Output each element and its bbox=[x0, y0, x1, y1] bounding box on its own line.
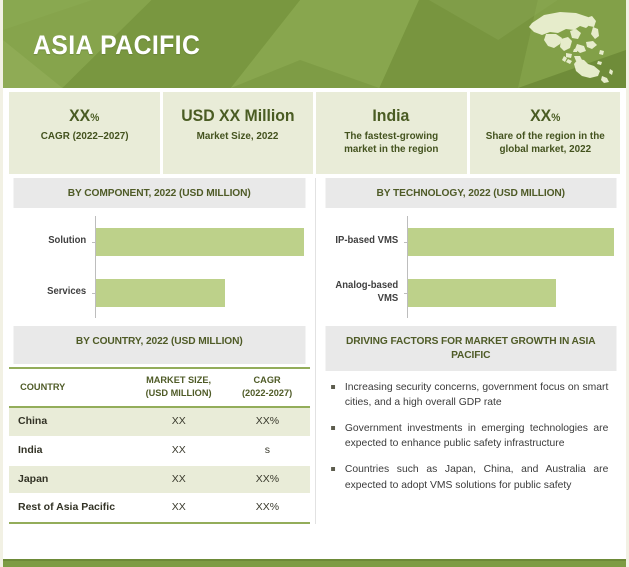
column-header-market-size: MARKET SIZE, (USD MILLION) bbox=[134, 368, 223, 407]
cell-cagr: XX% bbox=[225, 494, 309, 523]
stat-card-global-share: XX% Share of the region in the global ma… bbox=[470, 92, 621, 174]
list-item: Countries such as Japan, China, and Aust… bbox=[329, 462, 608, 492]
column-header-market-size-line2: (USD MILLION) bbox=[138, 388, 220, 401]
cell-country: China bbox=[9, 407, 132, 436]
stat-value-suffix: % bbox=[551, 112, 560, 124]
stat-value: XX% bbox=[69, 106, 99, 126]
charts-row: BY COMPONENT, 2022 (USD MILLION) Solutio… bbox=[3, 178, 626, 326]
page-title: ASIA PACIFIC bbox=[33, 30, 200, 61]
stat-value-text: USD XX Million bbox=[181, 106, 294, 125]
table-row: Rest of Asia Pacific XX XX% bbox=[9, 494, 310, 523]
table-header-row: COUNTRY MARKET SIZE, (USD MILLION) CAGR … bbox=[9, 368, 310, 407]
by-component-panel: BY COMPONENT, 2022 (USD MILLION) Solutio… bbox=[9, 178, 315, 326]
by-country-panel: BY COUNTRY, 2022 (USD MILLION) COUNTRY M… bbox=[9, 326, 315, 524]
chart-row: IP-based VMS bbox=[321, 216, 615, 267]
stat-label: Market Size, 2022 bbox=[197, 130, 279, 144]
stat-card-market-size: USD XX Million Market Size, 2022 bbox=[163, 92, 314, 174]
bar-category-label: Solution bbox=[11, 235, 93, 248]
bar-track bbox=[96, 279, 304, 307]
list-item: Government investments in emerging techn… bbox=[329, 421, 608, 451]
bar-services bbox=[96, 279, 225, 307]
section-header-by-technology: BY TECHNOLOGY, 2022 (USD MILLION) bbox=[325, 178, 616, 208]
cell-market-size: XX bbox=[132, 465, 225, 494]
section-header-by-component: BY COMPONENT, 2022 (USD MILLION) bbox=[14, 178, 305, 208]
chart-row: Analog-based VMS bbox=[321, 267, 615, 318]
chart-axis-line bbox=[95, 267, 96, 318]
stat-value: India bbox=[373, 106, 410, 126]
bar-analog-based-vms bbox=[408, 279, 557, 307]
footer-accent-bar bbox=[3, 559, 626, 567]
table-body: China XX XX% India XX s Japan XX XX% bbox=[9, 407, 310, 523]
table-head: COUNTRY MARKET SIZE, (USD MILLION) CAGR … bbox=[9, 368, 310, 407]
bar-solution bbox=[96, 228, 304, 256]
stat-label: CAGR (2022–2027) bbox=[40, 130, 128, 144]
driving-factors-list: Increasing security concerns, government… bbox=[321, 376, 621, 493]
section-header-driving-factors: DRIVING FACTORS FOR MARKET GROWTH IN ASI… bbox=[325, 326, 616, 370]
bar-track bbox=[408, 279, 615, 307]
stat-value: USD XX Million bbox=[181, 106, 294, 126]
column-header-cagr-line2: (2022-2027) bbox=[231, 388, 304, 401]
bar-track bbox=[96, 228, 304, 256]
cell-country: India bbox=[9, 437, 132, 466]
chart-axis-line bbox=[95, 216, 96, 267]
chart-axis-line bbox=[407, 216, 408, 267]
stat-card-fastest-growing: India The fastest-growing market in the … bbox=[316, 92, 467, 174]
bar-ip-based-vms bbox=[408, 228, 615, 256]
chart-row: Solution bbox=[9, 216, 304, 267]
stat-value-text: India bbox=[373, 106, 410, 125]
list-item: Increasing security concerns, government… bbox=[329, 380, 608, 410]
table-row: Japan XX XX% bbox=[9, 465, 310, 494]
column-header-country: COUNTRY bbox=[11, 368, 129, 407]
stat-value-text: XX bbox=[530, 106, 551, 125]
stat-value: XX% bbox=[530, 106, 560, 126]
by-technology-bar-chart: IP-based VMS Analog-based VMS bbox=[321, 208, 621, 326]
by-technology-panel: BY TECHNOLOGY, 2022 (USD MILLION) IP-bas… bbox=[315, 178, 621, 326]
asia-pacific-map-icon bbox=[514, 6, 618, 84]
cell-country: Rest of Asia Pacific bbox=[9, 494, 132, 523]
asia-pacific-infographic: ASIA PACIFIC bbox=[0, 0, 629, 567]
driving-factors-panel: DRIVING FACTORS FOR MARKET GROWTH IN ASI… bbox=[315, 326, 621, 524]
chart-row: Services bbox=[9, 267, 304, 318]
bar-track bbox=[408, 228, 615, 256]
table-row: China XX XX% bbox=[9, 407, 310, 436]
cell-cagr: XX% bbox=[225, 407, 309, 436]
by-component-bar-chart: Solution Services bbox=[9, 208, 310, 326]
section-header-by-country: BY COUNTRY, 2022 (USD MILLION) bbox=[14, 326, 305, 364]
table-factors-row: BY COUNTRY, 2022 (USD MILLION) COUNTRY M… bbox=[3, 326, 626, 524]
cell-market-size: XX bbox=[132, 437, 225, 466]
column-header-market-size-line1: MARKET SIZE, bbox=[138, 375, 220, 388]
cell-market-size: XX bbox=[132, 407, 225, 436]
cell-cagr: XX% bbox=[225, 465, 309, 494]
page-header: ASIA PACIFIC bbox=[3, 0, 626, 88]
stat-value-text: XX bbox=[69, 106, 90, 125]
stat-value-suffix: % bbox=[90, 112, 99, 124]
stat-label: The fastest-growing market in the region bbox=[328, 130, 454, 158]
bar-category-label: Services bbox=[11, 286, 93, 299]
cell-market-size: XX bbox=[132, 494, 225, 523]
chart-axis-line bbox=[407, 267, 408, 318]
column-header-cagr: CAGR (2022-2027) bbox=[227, 368, 308, 407]
key-stats-row: XX% CAGR (2022–2027) USD XX Million Mark… bbox=[3, 88, 626, 178]
stat-card-cagr: XX% CAGR (2022–2027) bbox=[9, 92, 160, 174]
bar-category-label: Analog-based VMS bbox=[323, 280, 405, 305]
column-header-cagr-line1: CAGR bbox=[231, 375, 304, 388]
cell-cagr: s bbox=[225, 437, 309, 466]
cell-country: Japan bbox=[9, 465, 132, 494]
stat-label: Share of the region in the global market… bbox=[482, 130, 608, 158]
table-row: India XX s bbox=[9, 437, 310, 466]
bar-category-label: IP-based VMS bbox=[323, 235, 405, 248]
country-table: COUNTRY MARKET SIZE, (USD MILLION) CAGR … bbox=[9, 367, 310, 524]
